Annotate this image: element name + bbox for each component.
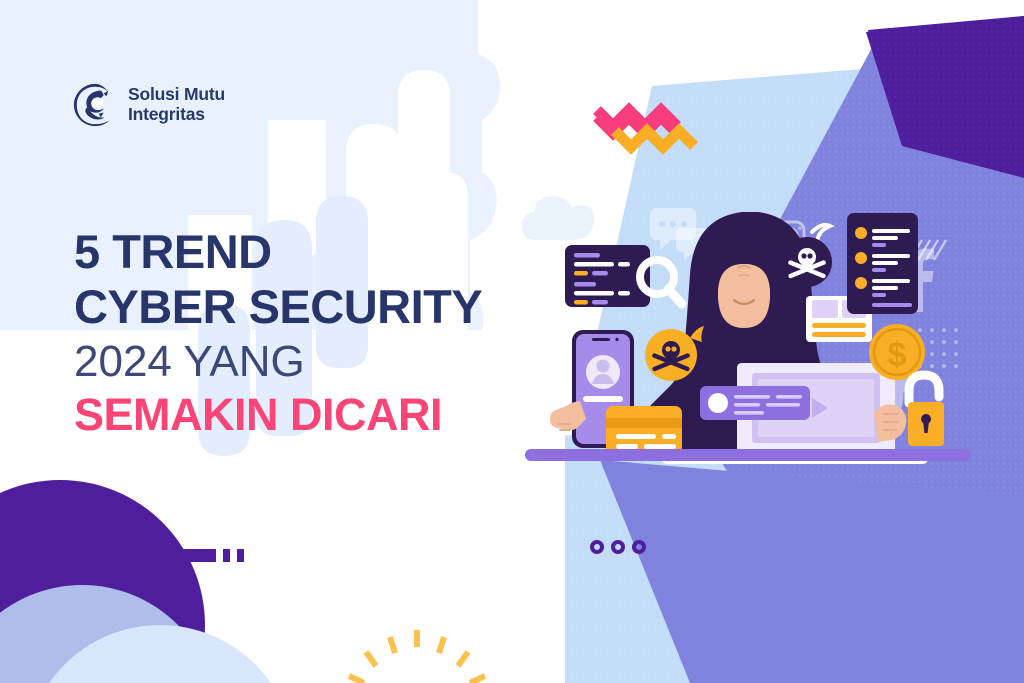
headline-line-2: CYBER SECURITY	[74, 283, 544, 330]
credit-card-icon	[606, 406, 682, 454]
solusi-mutu-fish-circle-logo-icon	[72, 82, 118, 128]
dash-long	[163, 549, 216, 562]
brand-logo[interactable]: Solusi Mutu Integritas	[72, 82, 225, 128]
desk-shelf	[525, 449, 970, 461]
svg-text:$: $	[888, 336, 907, 374]
headline-line-1: 5 TREND	[74, 228, 544, 275]
dash-small-1	[223, 549, 230, 562]
dash-decoration	[163, 549, 244, 562]
message-bar-icon	[700, 386, 810, 420]
headline-line-3: 2024 YANG	[74, 340, 544, 384]
dash-small-2	[237, 549, 244, 562]
banner-canvas: $	[0, 0, 1024, 683]
headline-line-4: SEMAKIN DICARI	[74, 392, 544, 437]
headline-block: 5 TREND CYBER SECURITY 2024 YANG SEMAKIN…	[74, 228, 544, 437]
terminal-list-panel-icon	[847, 213, 918, 314]
brand-name: Solusi Mutu Integritas	[128, 85, 225, 124]
